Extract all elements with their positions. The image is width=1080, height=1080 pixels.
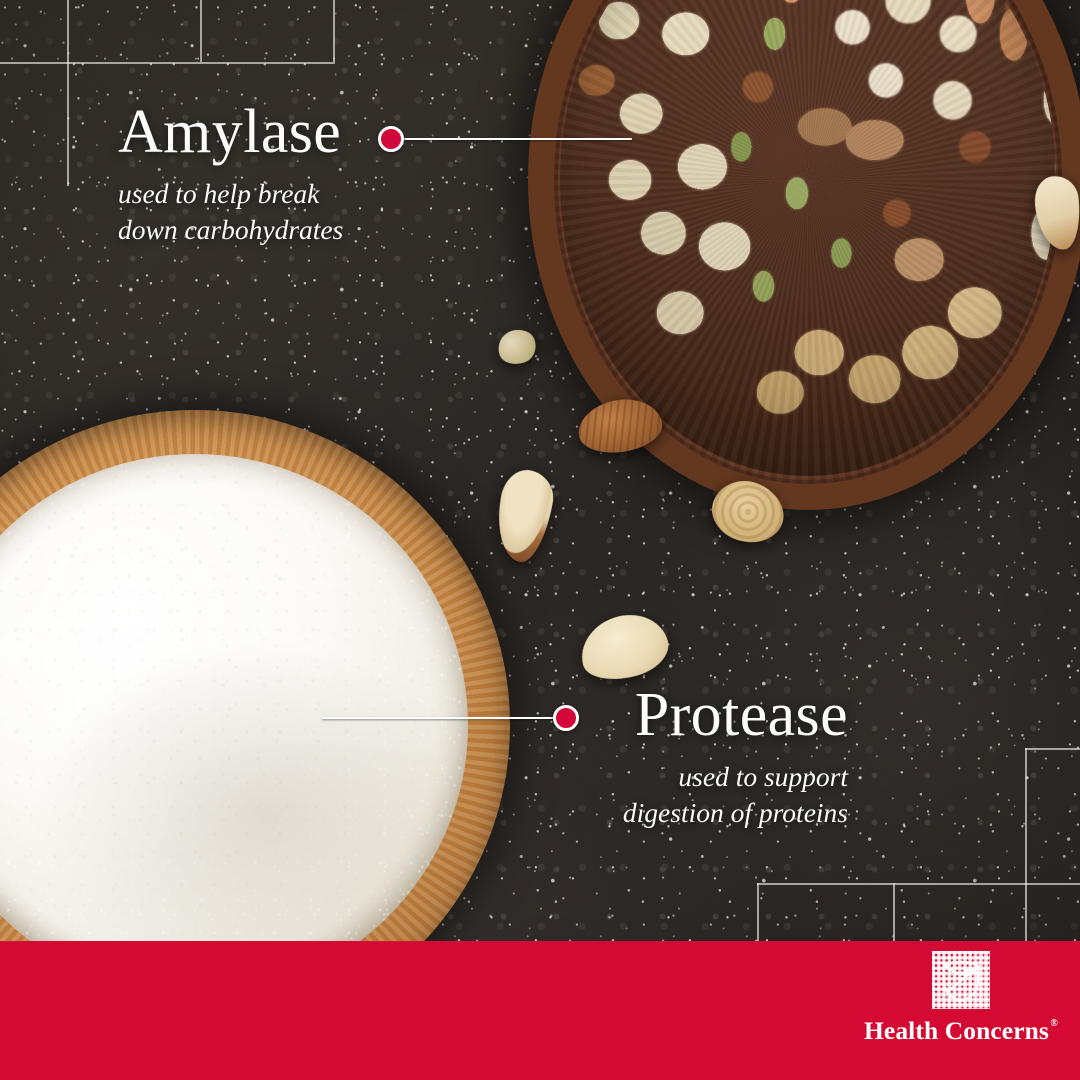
flour-granules bbox=[0, 454, 468, 996]
callout-subtitle-amylase: used to help break down carbohydrates bbox=[118, 176, 343, 248]
callout-dot-amylase[interactable] bbox=[378, 126, 404, 152]
mixed-nuts-bowl bbox=[528, 0, 1080, 510]
callout-subtitle-protease: used to support digestion of proteins bbox=[623, 759, 848, 831]
callout-dot-protease[interactable] bbox=[553, 705, 579, 731]
health-concerns-shield-grid-mark bbox=[932, 951, 990, 1009]
callout-title-protease: Protease bbox=[623, 684, 848, 746]
health-concerns-logo[interactable]: Health Concerns ® bbox=[864, 951, 1058, 1046]
callout-amylase: Amylase used to help break down carbohyd… bbox=[118, 101, 343, 248]
logo-wordmark: Health Concerns ® bbox=[864, 1016, 1058, 1046]
infographic-canvas: Amylase used to help break down carbohyd… bbox=[0, 0, 1080, 1080]
callout-protease: Protease used to support digestion of pr… bbox=[623, 684, 848, 831]
logo-wordmark-text: Health Concerns bbox=[864, 1016, 1049, 1046]
callout-title-amylase: Amylase bbox=[118, 101, 343, 163]
brand-footer-bar: Health Concerns ® bbox=[0, 941, 1080, 1080]
flour-surface bbox=[0, 454, 468, 996]
logo-shield-leaf-icon bbox=[932, 951, 990, 1009]
logo-registered-mark: ® bbox=[1050, 1018, 1058, 1029]
